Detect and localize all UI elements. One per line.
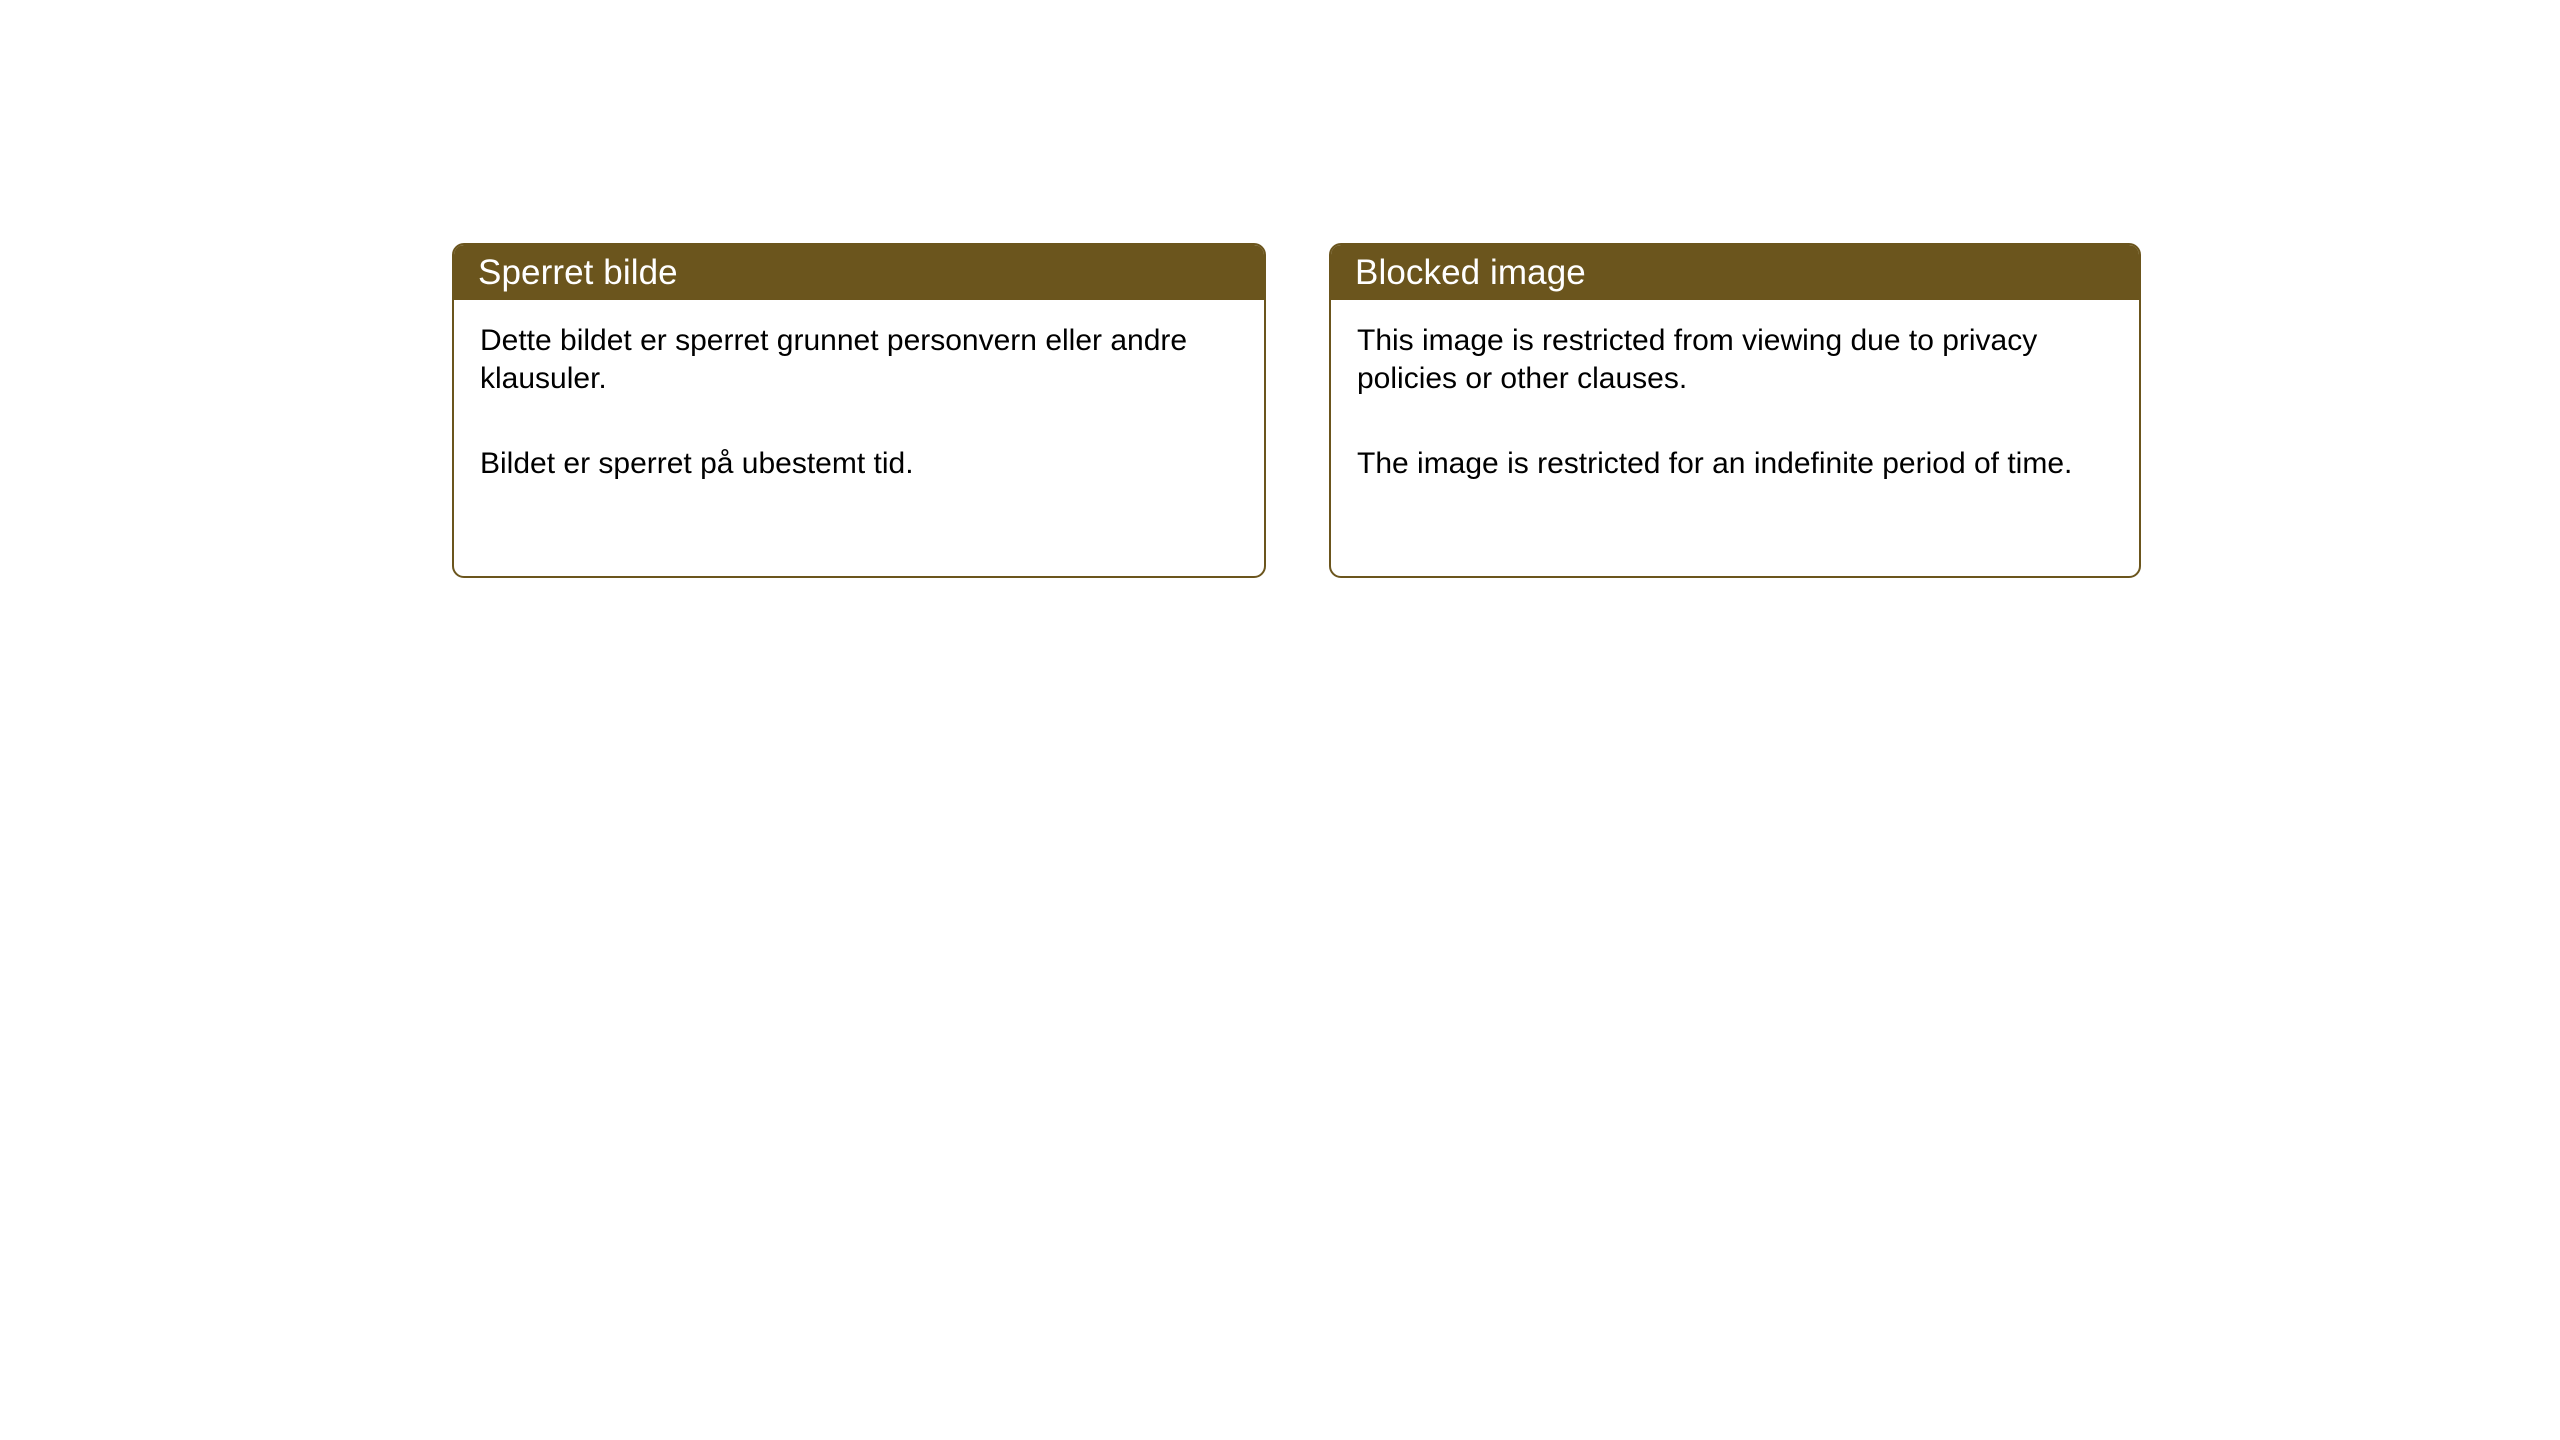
card-paragraph-primary-english: This image is restricted from viewing du… — [1357, 322, 2113, 399]
card-body-norwegian: Dette bildet er sperret grunnet personve… — [454, 300, 1264, 483]
card-header-english: Blocked image — [1331, 245, 2139, 300]
paragraph-spacer — [1357, 399, 2113, 445]
card-title-norwegian: Sperret bilde — [478, 255, 678, 290]
card-paragraph-primary-norwegian: Dette bildet er sperret grunnet personve… — [480, 322, 1238, 399]
page-canvas: Sperret bilde Dette bildet er sperret gr… — [0, 0, 2560, 1440]
card-title-english: Blocked image — [1355, 255, 1586, 290]
card-paragraph-secondary-english: The image is restricted for an indefinit… — [1357, 445, 2113, 483]
card-body-english: This image is restricted from viewing du… — [1331, 300, 2139, 483]
card-paragraph-secondary-norwegian: Bildet er sperret på ubestemt tid. — [480, 445, 1238, 483]
blocked-image-card-norwegian: Sperret bilde Dette bildet er sperret gr… — [452, 243, 1266, 578]
blocked-image-card-english: Blocked image This image is restricted f… — [1329, 243, 2141, 578]
card-header-norwegian: Sperret bilde — [454, 245, 1264, 300]
paragraph-spacer — [480, 399, 1238, 445]
